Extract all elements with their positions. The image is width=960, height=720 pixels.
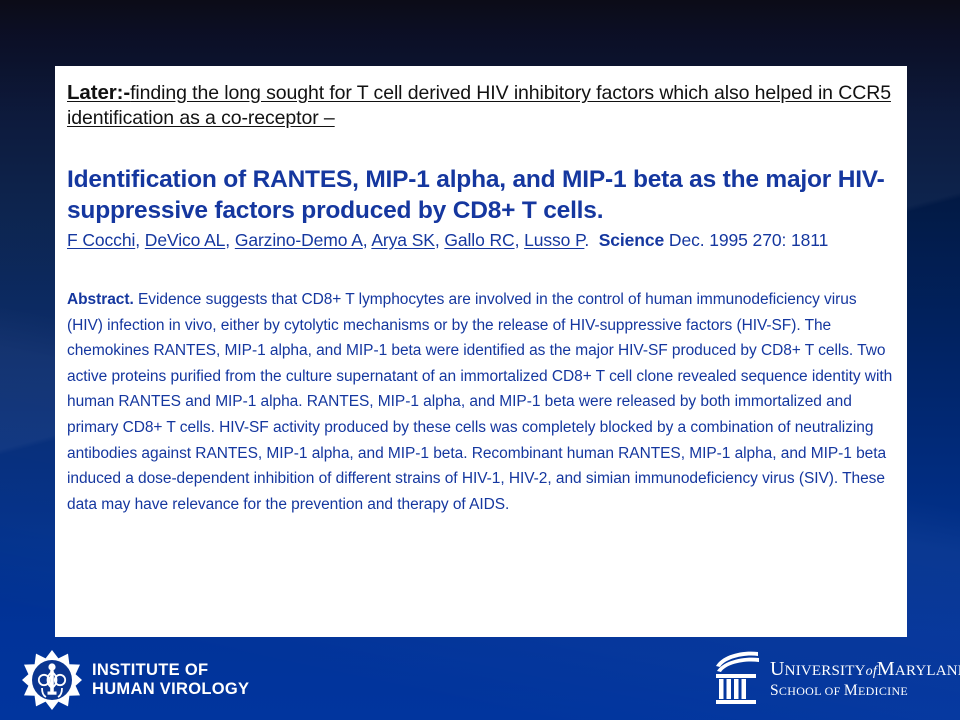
- sunburst-emblem-icon: [22, 650, 82, 710]
- university-of-maryland-logo: UNIVERSITYofMARYLAND SCHOOL OF MEDICINE: [712, 650, 960, 708]
- umd-logo-text: UNIVERSITYofMARYLAND SCHOOL OF MEDICINE: [770, 659, 960, 700]
- authors-citation-line: F Cocchi, DeVico AL, Garzino-Demo A, Ary…: [67, 229, 893, 252]
- umd-of: of: [866, 664, 877, 679]
- umd-logo-line-2: SCHOOL OF MEDICINE: [770, 682, 960, 700]
- author-link-1[interactable]: F Cocchi: [67, 230, 135, 250]
- umd-m-cap-2: M: [844, 682, 858, 699]
- lead-rest-text: finding the long sought for T cell deriv…: [67, 82, 891, 129]
- author-link-2[interactable]: DeVico AL: [145, 230, 226, 250]
- lead-strong-label: Later:-: [67, 81, 130, 104]
- abstract-label: Abstract.: [67, 291, 134, 308]
- umd-aryland: ARYLAND: [895, 663, 960, 679]
- umd-u-cap: U: [770, 658, 785, 680]
- columned-building-icon: [712, 650, 764, 708]
- abstract-paragraph: Abstract. Evidence suggests that CD8+ T …: [67, 287, 893, 517]
- author-link-5[interactable]: Gallo RC: [444, 230, 514, 250]
- content-card: Later:-finding the long sought for T cel…: [55, 66, 907, 637]
- slide-canvas: Later:-finding the long sought for T cel…: [0, 0, 960, 720]
- institute-of-human-virology-logo: INSTITUTE OF HUMAN VIROLOGY: [22, 650, 249, 710]
- journal-name: Science: [599, 230, 664, 250]
- lead-paragraph: Later:-finding the long sought for T cel…: [67, 80, 893, 131]
- paper-title: Identification of RANTES, MIP-1 alpha, a…: [67, 164, 893, 226]
- ihv-logo-line-2: HUMAN VIROLOGY: [92, 680, 249, 699]
- umd-s-cap: S: [770, 682, 779, 699]
- ihv-logo-text: INSTITUTE OF HUMAN VIROLOGY: [92, 661, 249, 699]
- umd-logo-line-1: UNIVERSITYofMARYLAND: [770, 659, 960, 682]
- author-link-6[interactable]: Lusso P: [524, 230, 584, 250]
- umd-m-cap: M: [877, 658, 895, 680]
- author-link-3[interactable]: Garzino-Demo A: [235, 230, 363, 250]
- umd-edicine: EDICINE: [858, 684, 908, 698]
- umd-niversity: NIVERSITY: [785, 663, 866, 679]
- umd-chool-of: CHOOL OF: [779, 684, 844, 698]
- author-link-4[interactable]: Arya SK: [371, 230, 435, 250]
- ihv-logo-line-1: INSTITUTE OF: [92, 661, 249, 680]
- citation-details: Dec. 1995 270: 1811: [669, 230, 828, 250]
- abstract-body: Evidence suggests that CD8+ T lymphocyte…: [67, 291, 892, 513]
